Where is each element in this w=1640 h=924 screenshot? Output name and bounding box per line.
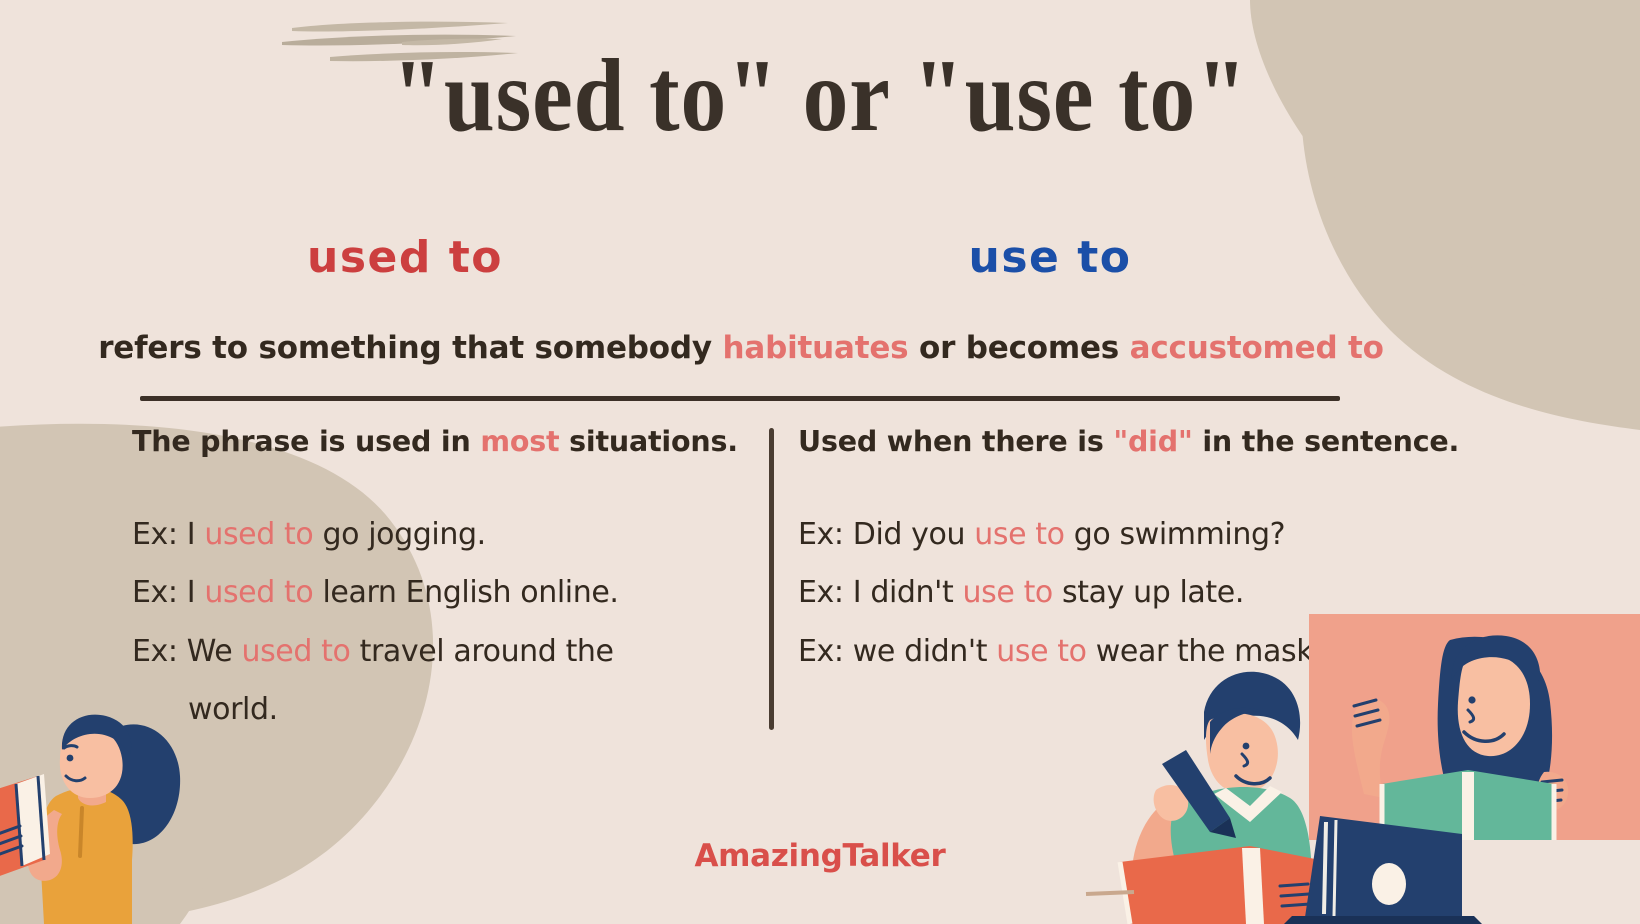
boy-hair-shape xyxy=(1204,672,1300,740)
example-prefix: Ex: I xyxy=(132,575,204,610)
hair-shape xyxy=(62,715,131,754)
eyebrow-shape xyxy=(64,746,77,748)
boy-book-hand-fingers-shape xyxy=(1280,884,1310,906)
column-used-to: The phrase is used in most situations. E… xyxy=(132,424,752,740)
right-example-list: Ex: Did you use to go swimming? Ex: I di… xyxy=(798,506,1438,682)
boy-collar-shape xyxy=(1214,786,1282,822)
woman-face-shape xyxy=(1458,654,1530,756)
example-highlight: use to xyxy=(963,575,1053,610)
boy-mouth-shape xyxy=(1236,776,1270,784)
eye-shape xyxy=(67,755,74,762)
example-highlight: used to xyxy=(204,575,313,610)
example-continuation: world. xyxy=(132,681,752,740)
woman-book-spine-shape xyxy=(1462,772,1474,840)
woman-raised-arm-shape xyxy=(1352,699,1390,798)
example-highlight: used to xyxy=(204,517,313,552)
example-suffix: travel around the xyxy=(350,634,613,669)
list-item: Ex: I used to learn English online. xyxy=(132,564,752,623)
definition-part1: refers to something that somebody xyxy=(98,330,722,366)
left-rule-part1: The phrase is used in xyxy=(132,425,480,458)
woman-book-shape xyxy=(1382,770,1468,840)
definition-highlight-accustomed: accustomed to xyxy=(1130,330,1384,366)
example-prefix: Ex: we didn't xyxy=(798,634,996,669)
brush-stroke-1 xyxy=(292,22,508,32)
boy-hand-shape xyxy=(1154,785,1189,821)
heading-use-to: use to xyxy=(830,232,1270,283)
woman-hair-back-shape xyxy=(1438,637,1552,808)
example-prefix: Ex: We xyxy=(132,634,241,669)
boy-face-shape xyxy=(1206,713,1278,793)
vertical-divider xyxy=(769,428,774,730)
left-rule-part2: situations. xyxy=(559,425,737,458)
example-suffix: wear the mask. xyxy=(1087,634,1323,669)
definition-line: refers to something that somebody habitu… xyxy=(0,330,1482,366)
left-column-rule: The phrase is used in most situations. xyxy=(132,424,752,460)
desk-line xyxy=(1086,892,1134,894)
woman-nose-shape xyxy=(1468,710,1474,722)
example-prefix: Ex: I didn't xyxy=(798,575,963,610)
woman-holding-hand-shape xyxy=(1537,772,1568,811)
list-item: Ex: we didn't use to wear the mask. xyxy=(798,623,1438,682)
right-rule-part2: in the sentence. xyxy=(1193,425,1460,458)
head-shape xyxy=(60,726,123,798)
pen-shape xyxy=(1162,750,1230,832)
woman-book-right-shape xyxy=(1468,770,1554,840)
example-prefix: Ex: I xyxy=(132,517,204,552)
ponytail-shape xyxy=(98,724,180,844)
horizontal-divider xyxy=(140,396,1340,401)
definition-highlight-habituates: habituates xyxy=(722,330,908,366)
example-suffix: go jogging. xyxy=(313,517,485,552)
woman-hand-fingers-shape xyxy=(1354,700,1380,726)
right-column-rule: Used when there is "did" in the sentence… xyxy=(798,424,1438,460)
example-highlight: used to xyxy=(241,634,350,669)
woman-holding-fingers-shape xyxy=(1542,780,1562,802)
neck-shape xyxy=(78,778,106,805)
right-rule-part1: Used when there is xyxy=(798,425,1113,458)
list-item: Ex: We used to travel around theworld. xyxy=(132,623,752,740)
woman-eye-shape xyxy=(1468,696,1475,703)
brand-logo-text: AmazingTalker xyxy=(0,838,1640,874)
example-highlight: use to xyxy=(996,634,1086,669)
left-rule-highlight: most xyxy=(480,425,559,458)
boy-nose-shape xyxy=(1242,754,1248,766)
boy-fringe-shape xyxy=(1210,708,1264,754)
example-suffix: learn English online. xyxy=(313,575,618,610)
laptop-base-shape xyxy=(1284,916,1482,924)
example-suffix: go swimming? xyxy=(1065,517,1286,552)
right-rule-highlight: "did" xyxy=(1113,425,1192,458)
mouth-shape xyxy=(66,776,85,781)
list-item: Ex: I used to go jogging. xyxy=(132,506,752,565)
woman-bangs-shape xyxy=(1452,635,1540,682)
example-prefix: Ex: Did you xyxy=(798,517,974,552)
heading-used-to: used to xyxy=(160,232,650,283)
column-use-to: Used when there is "did" in the sentence… xyxy=(798,424,1438,681)
left-example-list: Ex: I used to go jogging. Ex: I used to … xyxy=(132,506,752,740)
list-item: Ex: I didn't use to stay up late. xyxy=(798,564,1438,623)
example-highlight: use to xyxy=(974,517,1064,552)
page-title: "used to" or "use to" xyxy=(98,44,1541,148)
boy-eye-shape xyxy=(1243,743,1250,750)
woman-mouth-shape xyxy=(1464,732,1504,741)
definition-part2: or becomes xyxy=(908,330,1129,366)
pen-tip-shape xyxy=(1210,818,1236,838)
infographic-canvas: "used to" or "use to" used to use to ref… xyxy=(0,0,1640,924)
list-item: Ex: Did you use to go swimming? xyxy=(798,506,1438,565)
example-suffix: stay up late. xyxy=(1053,575,1244,610)
